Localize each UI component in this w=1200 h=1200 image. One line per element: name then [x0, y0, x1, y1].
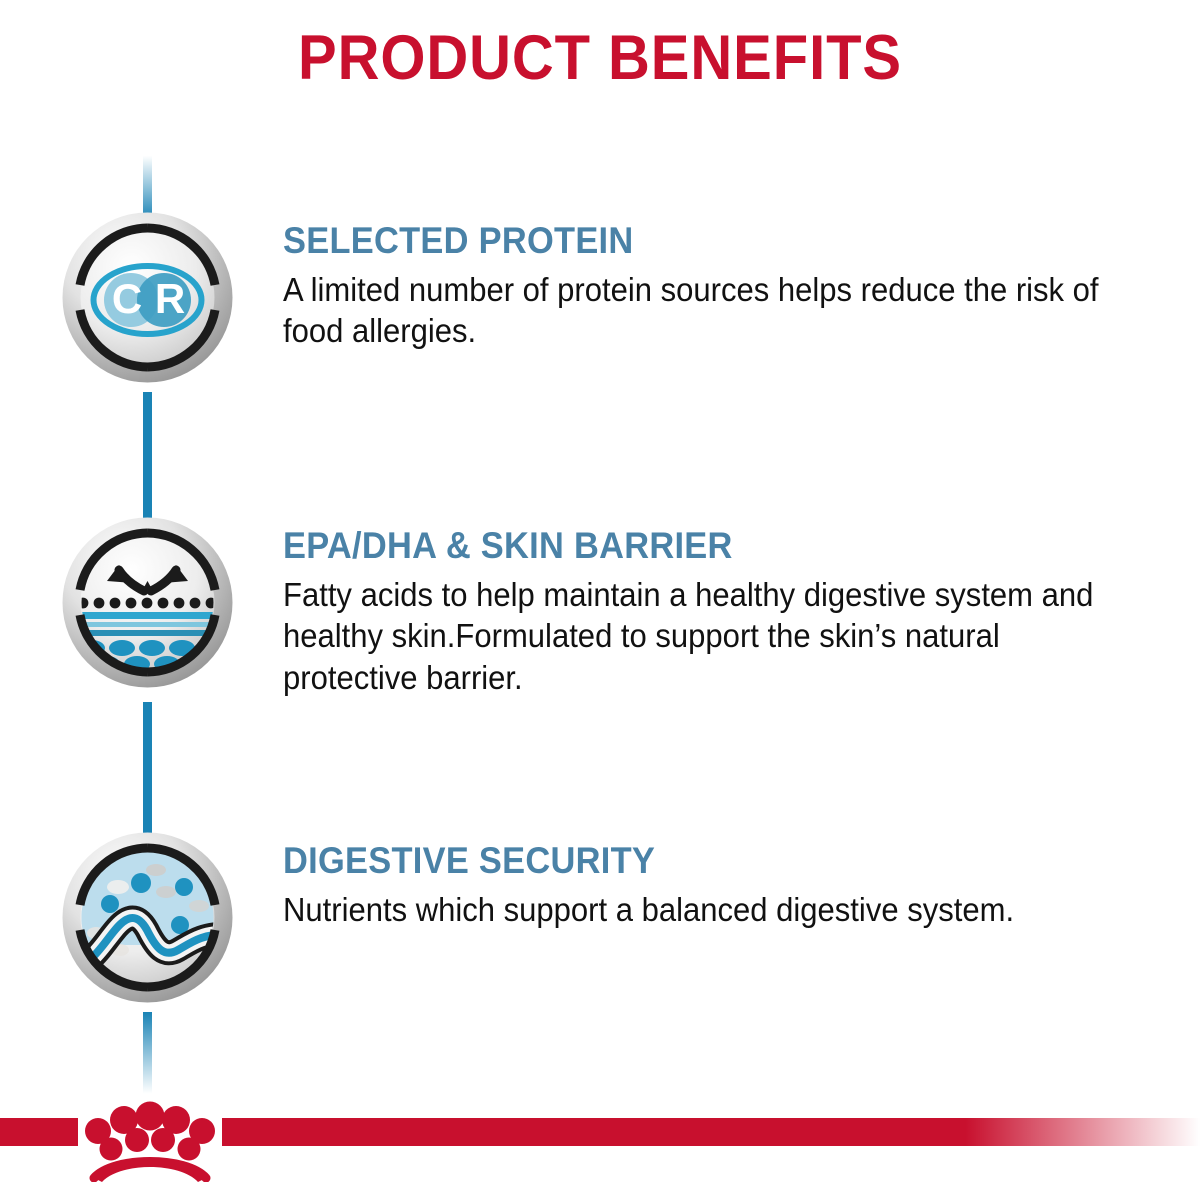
royal-canin-crown-logo — [74, 1092, 226, 1182]
benefit-heading: DIGESTIVE SECURITY — [283, 840, 1041, 883]
benefit-body: Fatty acids to help maintain a healthy d… — [283, 574, 1101, 699]
skin-barrier-icon — [60, 515, 235, 690]
benefit-text-block: DIGESTIVE SECURITY Nutrients which suppo… — [283, 840, 1098, 930]
svg-text:C: C — [112, 275, 142, 322]
svg-text:R: R — [155, 275, 185, 322]
benefit-body: Nutrients which support a balanced diges… — [283, 889, 1101, 931]
footer — [0, 1118, 1200, 1200]
page-title: PRODUCT BENEFITS — [48, 22, 1152, 94]
benefit-text-block: EPA/DHA & SKIN BARRIER Fatty acids to he… — [283, 525, 1098, 698]
connector-line-1 — [143, 392, 152, 527]
connector-line-bottom — [143, 1012, 152, 1097]
benefit-heading: EPA/DHA & SKIN BARRIER — [283, 525, 1041, 568]
connector-line-2 — [143, 702, 152, 837]
benefits-list: C R SELECTED PROTEIN A limited number of… — [0, 150, 1200, 1090]
footer-bar-left — [0, 1118, 78, 1146]
benefit-heading: SELECTED PROTEIN — [283, 220, 1041, 263]
benefit-text-block: SELECTED PROTEIN A limited number of pro… — [283, 220, 1098, 352]
digestive-security-icon — [60, 830, 235, 1005]
footer-bar-right — [222, 1118, 1200, 1146]
benefit-body: A limited number of protein sources help… — [283, 269, 1101, 352]
selected-protein-icon: C R — [60, 210, 235, 385]
